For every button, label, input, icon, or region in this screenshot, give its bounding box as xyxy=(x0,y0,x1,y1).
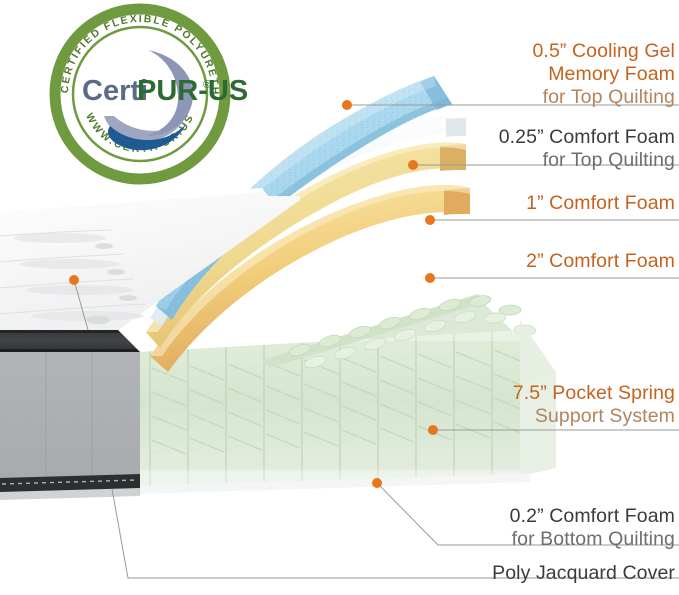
badge-registered-mark: ® xyxy=(203,79,211,91)
label-line-1: 0.25” Comfort Foam xyxy=(499,126,675,149)
label-comfort-foam-1in: 1” Comfort Foam xyxy=(526,192,675,215)
label-comfort-foam-2in: 2” Comfort Foam xyxy=(526,250,675,273)
label-line-2: for Bottom Quilting xyxy=(510,528,675,551)
label-line-1: 7.5” Pocket Spring xyxy=(513,382,675,405)
label-pocket-spring-support-system: 7.5” Pocket Spring Support System xyxy=(513,382,675,428)
certipur-us-badge: CONTAINS CERTIFIED FLEXIBLE POLYURETHANE… xyxy=(54,8,248,180)
label-line-2: Memory Foam xyxy=(532,63,675,86)
badge-brand-suffix: PUR-US xyxy=(137,75,248,107)
label-line-2: for Top Quilting xyxy=(499,149,675,172)
label-poly-jacquard-cover: Poly Jacquard Cover xyxy=(492,562,675,585)
dot-comfort-bottom xyxy=(372,478,382,488)
dot-top-quilt xyxy=(69,275,79,285)
dot-comfort-2in xyxy=(425,273,435,283)
label-line-1: 2” Comfort Foam xyxy=(526,250,675,273)
dot-pocket-spring xyxy=(428,425,438,435)
label-line-3: for Top Quilting xyxy=(532,86,675,109)
label-line-1: 0.5” Cooling Gel xyxy=(532,40,675,63)
infographic-canvas: CONTAINS CERTIFIED FLEXIBLE POLYURETHANE… xyxy=(0,0,679,595)
dot-comfort-1in xyxy=(425,215,435,225)
label-line-1: 1” Comfort Foam xyxy=(526,192,675,215)
label-line-1: 0.2” Comfort Foam xyxy=(510,505,675,528)
label-comfort-foam-top-quilting: 0.25” Comfort Foam for Top Quilting xyxy=(499,126,675,172)
label-line-1: Poly Jacquard Cover xyxy=(492,562,675,585)
label-line-2: Support System xyxy=(513,405,675,428)
label-comfort-foam-bottom-quilting: 0.2” Comfort Foam for Bottom Quilting xyxy=(510,505,675,551)
label-cooling-gel-memory-foam: 0.5” Cooling Gel Memory Foam for Top Qui… xyxy=(532,40,675,108)
dot-comfort-025 xyxy=(408,160,418,170)
dot-cooling-gel xyxy=(342,100,352,110)
